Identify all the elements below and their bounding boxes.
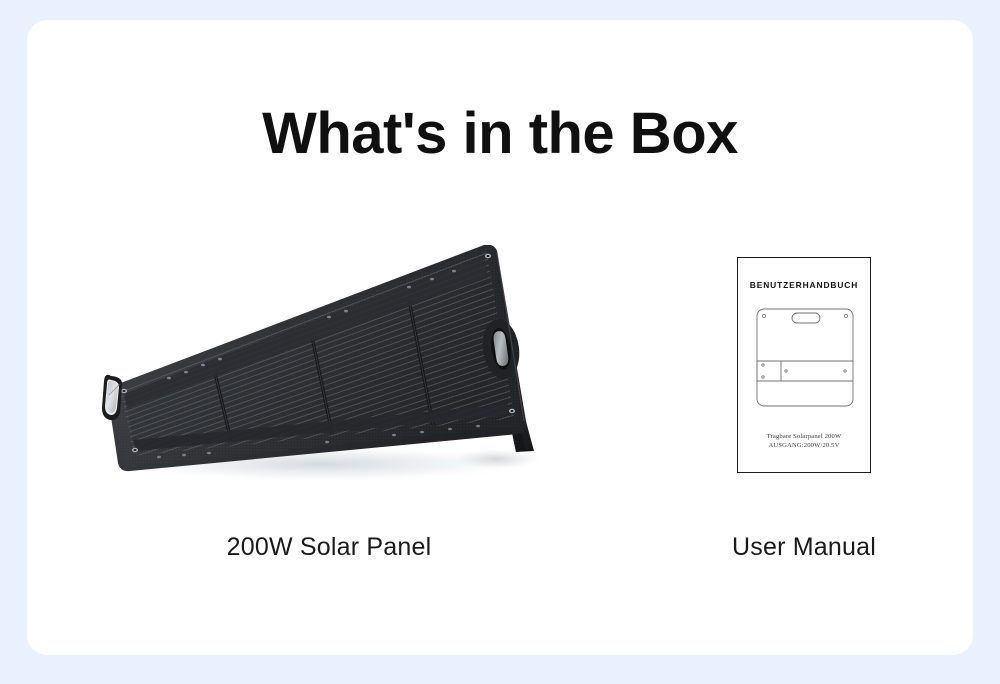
manual-subtitle: Tragbare Solarpanel 200W AUSGANG:200W/20… <box>738 432 870 450</box>
content-card: What's in the Box <box>27 20 973 655</box>
manual-subtitle-line-1: Tragbare Solarpanel 200W <box>738 432 870 441</box>
kickstand-ground-shadow <box>448 448 544 470</box>
solar-panel-illustration <box>64 245 594 515</box>
user-manual-illustration: BENUTZERHANDBUCH <box>614 245 994 515</box>
panel-handle-left <box>102 375 122 420</box>
item-caption-solar-panel: 200W Solar Panel <box>64 533 594 562</box>
page-title: What's in the Box <box>27 100 973 167</box>
user-manual-stage: BENUTZERHANDBUCH <box>614 245 994 515</box>
page-root: What's in the Box <box>0 0 1000 684</box>
list-item-user-manual: BENUTZERHANDBUCH <box>614 245 994 605</box>
solar-panel-stage <box>64 245 594 515</box>
manual-subtitle-line-2: AUSGANG:200W/20.5V <box>738 441 870 450</box>
item-caption-user-manual: User Manual <box>614 533 994 562</box>
manual-heading: BENUTZERHANDBUCH <box>738 280 870 290</box>
folded-solar-panel-diagram <box>753 305 857 410</box>
list-item-solar-panel: 200W Solar Panel <box>64 245 594 605</box>
manual-cover-page: BENUTZERHANDBUCH <box>737 257 871 473</box>
box-contents-list: 200W Solar Panel BENUTZERHANDBUCH <box>54 245 1000 605</box>
